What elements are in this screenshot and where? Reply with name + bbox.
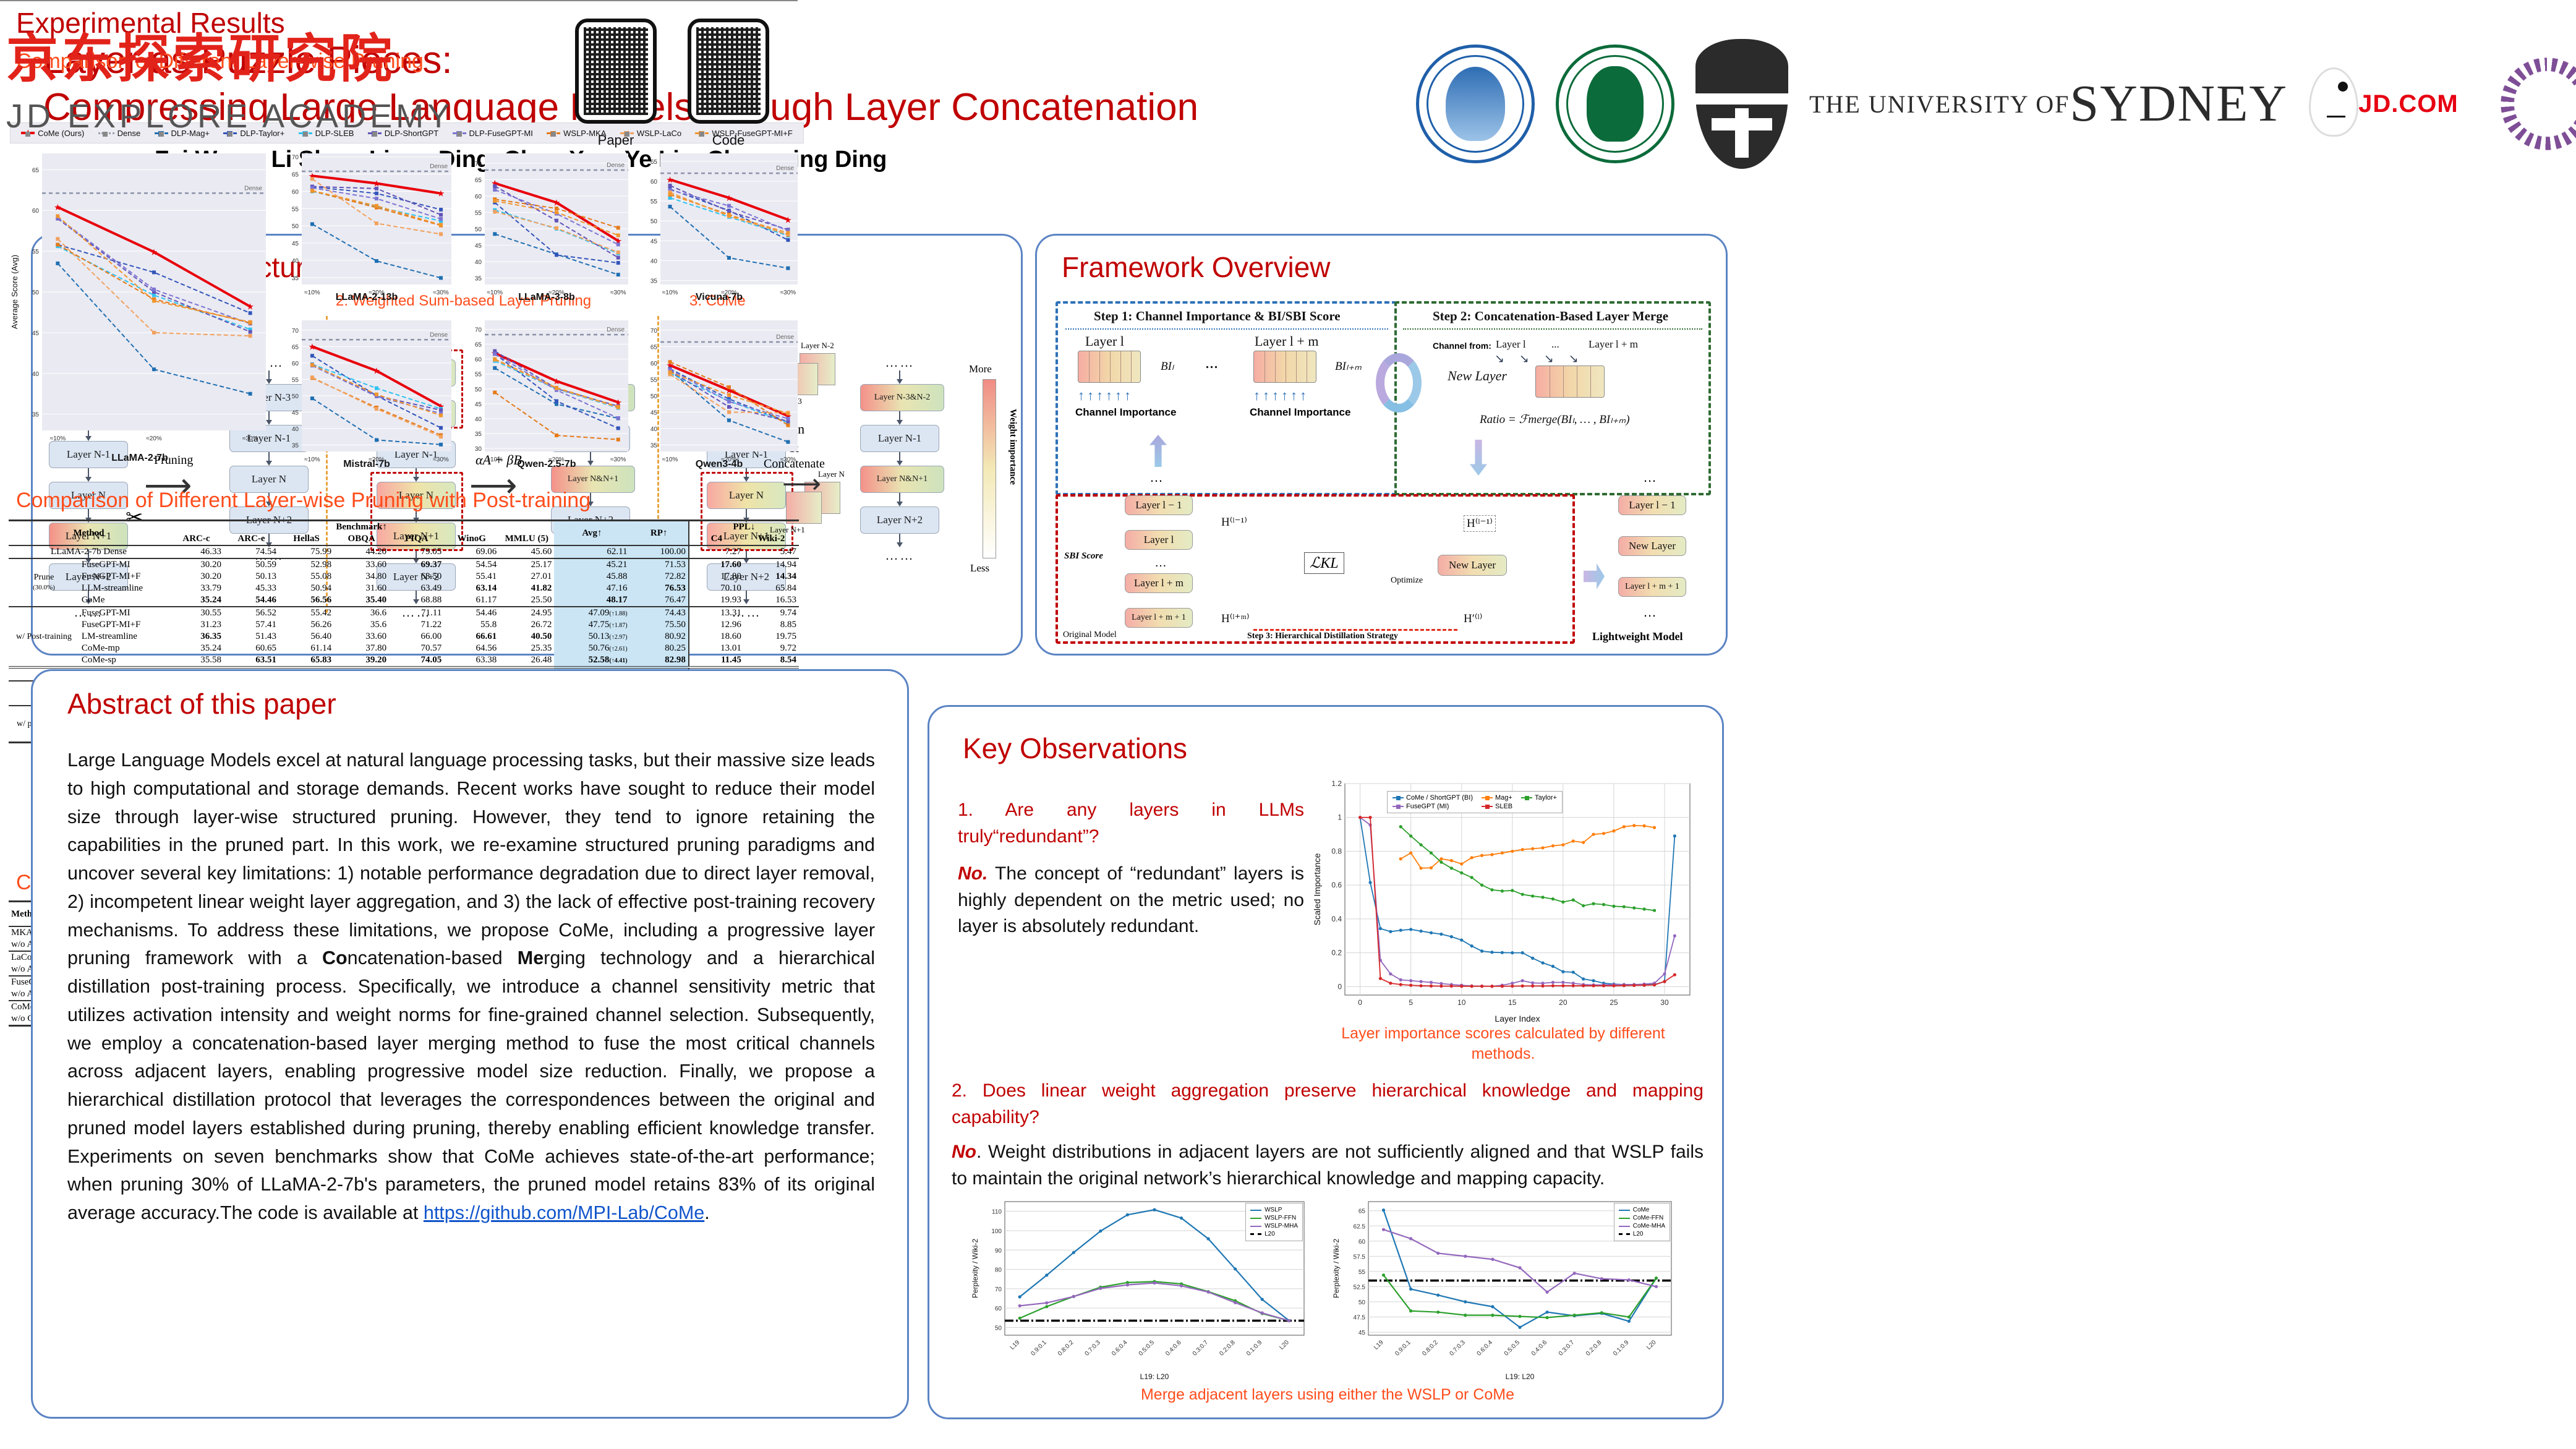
jd-explore-logo: 京东探索研究院 JD EXPLORE ACADEMY [6, 17, 526, 135]
colorbar-top-label: More [969, 363, 992, 375]
svg-text:60: 60 [650, 179, 658, 186]
svg-text:40: 40 [32, 371, 40, 378]
svg-text:Layer Index: Layer Index [1495, 1014, 1540, 1024]
cell: 50.94 [279, 583, 334, 594]
cell: 36.6 [334, 607, 389, 619]
cell-wiki: 19.75 [744, 631, 799, 643]
light-block-0: Layer l − 1 [1618, 495, 1686, 515]
poster-root: Layer as Puzzle Pieces: Compressing Larg… [0, 0, 2576, 1449]
distill-dashed-link [1253, 629, 1457, 631]
svg-text:45: 45 [475, 242, 482, 249]
svg-text:110: 110 [992, 1209, 1002, 1216]
svg-text:★: ★ [553, 198, 561, 208]
experimental-sub2: Comparison of Different Layer-wise Pruni… [16, 489, 591, 513]
abstract-title: Abstract of this paper [67, 687, 336, 720]
cell-wiki: 8.85 [744, 619, 799, 631]
row-label: FuseGPT-MI+F [79, 571, 169, 583]
svg-text:Scaled Importance: Scaled Importance [1313, 853, 1322, 925]
cell: 33.79 [169, 583, 224, 594]
col-HellaS: HellaS [279, 533, 334, 545]
framework-layer-l-label: Layer l [1085, 333, 1124, 349]
keyobs-question-2: 2. Does linear weight aggregation preser… [952, 1078, 1704, 1131]
svg-text:0.2: 0.2 [1331, 949, 1342, 957]
subplot-llama-3-8b: 3540455055606570≈10%≈20%≈30%Dense★★★ [461, 148, 632, 303]
orig-block-1: Layer l [1125, 530, 1193, 550]
orig-block-3: Layer l + m + 1 [1125, 608, 1193, 628]
svg-text:0.2:0.8: 0.2:0.8 [1585, 1339, 1603, 1357]
abstract-body: Large Language Models excel at natural l… [67, 746, 875, 1228]
svg-text:100: 100 [991, 1228, 1002, 1235]
cell: 79.05 [389, 545, 444, 558]
svg-text:90: 90 [995, 1247, 1002, 1254]
col-benchmark: Benchmark↑ [169, 521, 554, 534]
framework-step2-box [1394, 301, 1711, 495]
jd-chinese-name: 京东探索研究院 [6, 17, 526, 92]
svg-text:Dense: Dense [607, 327, 625, 333]
cell: 54.46 [444, 607, 499, 619]
come-plot-legend: CoMeCoMe-FFNCoMe-MHAL20 [1614, 1203, 1670, 1241]
row-label: CoMe-mp [79, 643, 169, 654]
jd-english-name: JD EXPLORE ACADEMY [6, 97, 526, 135]
channel-arrows-l-icon: ↑↑↑↑↑↑ [1078, 388, 1133, 404]
abstract-bold-co: Co [322, 947, 348, 968]
col-WinoG: WinoG [444, 533, 499, 545]
cell-rp: 71.53 [630, 558, 689, 571]
qr-code-code[interactable] [688, 19, 769, 124]
keyobs-answer-2-bold: No [952, 1142, 976, 1162]
cell-avg: 52.58(↑4.41) [554, 654, 629, 667]
svg-text:35: 35 [475, 275, 482, 282]
orig-block-2: Layer l + m [1125, 573, 1193, 593]
svg-text:0.6: 0.6 [1331, 881, 1342, 889]
cell: 37.80 [334, 643, 389, 654]
cell-rp: 76.53 [630, 583, 689, 594]
new-layer-box: New Layer [1438, 555, 1507, 576]
svg-text:★: ★ [666, 174, 674, 184]
cell-wiki: 9.74 [744, 607, 799, 619]
svg-text:0.2:0.8: 0.2:0.8 [1218, 1339, 1237, 1357]
cell: 39.20 [334, 654, 389, 667]
cell: 41.82 [499, 583, 554, 594]
svg-text:50: 50 [475, 226, 482, 233]
svg-text:0.5:0.5: 0.5:0.5 [1503, 1339, 1522, 1357]
usyd-line1: THE UNIVERSITY OF [1809, 90, 2070, 119]
col-ARC-e: ARC-e [224, 533, 279, 545]
float-label-1: Layer N-2 [801, 341, 834, 351]
orig-block-0: Layer l − 1 [1125, 495, 1193, 515]
svg-text:50: 50 [292, 223, 299, 230]
chart-grid: ★CoMe (Ours)DenseDLP-Mag+DLP-Taylor+DLP-… [6, 122, 804, 469]
cell: 71.11 [389, 607, 444, 619]
colorbar-axis-label: Weight importance [1007, 409, 1018, 485]
svg-text:35: 35 [32, 412, 40, 419]
svg-text:70: 70 [650, 328, 658, 335]
cell: 31.23 [169, 619, 224, 631]
abstract-bold-me: Me [518, 947, 544, 968]
plot-svg: 3540455055606570≈10%≈20%≈30%Dense★★★ [278, 315, 455, 470]
subplot-title: LLaMA-2-13b [278, 292, 455, 303]
qr-code-image [696, 27, 761, 115]
cell: 30.20 [169, 558, 224, 571]
cell-c4: 70.10 [689, 583, 744, 594]
svg-text:47.5: 47.5 [1354, 1315, 1366, 1322]
cell: 35.58 [169, 654, 224, 667]
framework-title: Framework Overview [1062, 250, 1331, 284]
pruning-arrow-3: ⟶ [782, 468, 821, 500]
cell: 55.41 [444, 571, 499, 583]
group-label: Prune(30.0%) [9, 558, 79, 607]
cell: 56.40 [279, 631, 334, 643]
svg-text:65: 65 [650, 344, 658, 351]
svg-text:55: 55 [292, 206, 299, 213]
svg-text:15: 15 [1508, 998, 1517, 1007]
row-label: LLaMA-2-7b Dense [9, 545, 169, 558]
keyobs-caption-2: Merge adjacent layers using either the W… [952, 1385, 1704, 1405]
svg-text:30: 30 [1660, 998, 1669, 1007]
keyobs-title: Key Observations [963, 732, 1187, 765]
cell: 51.43 [224, 631, 279, 643]
cell: 33.60 [334, 631, 389, 643]
scut-logo [1416, 45, 1535, 163]
svg-text:45: 45 [292, 409, 299, 416]
row-label: LLM-streamline [79, 583, 169, 594]
subplot-title: LLaMA-2-7b [10, 453, 270, 464]
svg-text:40: 40 [475, 259, 482, 266]
framework-dots-right-top: … [1643, 469, 1657, 485]
svg-text:1.2: 1.2 [1331, 779, 1342, 788]
cell-c4: 13.01 [689, 643, 744, 654]
svg-text:Dense: Dense [430, 331, 448, 338]
cell: 25.35 [499, 643, 554, 654]
channel-src-lm: Layer l + m [1589, 338, 1638, 351]
subplot-title: Vicuna-7b [637, 292, 801, 303]
cell: 35.24 [169, 643, 224, 654]
col-ppl: PPL↓ [689, 521, 799, 534]
framework-dots-mid: … [1154, 556, 1167, 570]
cell: 55.42 [279, 607, 334, 619]
svg-text:0: 0 [1337, 982, 1342, 991]
col-PIQA: PIQA [389, 533, 444, 545]
plot-svg: 00.20.40.60.811.2051015202530Scaled Impo… [1313, 776, 1696, 1024]
cell: 35.6 [334, 619, 389, 631]
cell-avg: 47.09(↑1.88) [554, 607, 629, 619]
legend-item: CoMe / ShortGPT (BI) [1392, 794, 1473, 801]
cell: 66.61 [444, 631, 499, 643]
svg-text:≈20%: ≈20% [146, 435, 162, 442]
svg-text:65: 65 [1358, 1208, 1366, 1215]
row-label: FuseGPT-MI [79, 607, 169, 619]
cell: 26.72 [499, 619, 554, 631]
col-avg: Avg↑ [554, 521, 629, 546]
cell: 24.95 [499, 607, 554, 619]
neurips-logo: NEURAL INFORMATION PROCESSING SYSTEMS [2501, 46, 2576, 161]
cell: 25.50 [499, 594, 554, 607]
jdcom-label: JD.COM [2358, 90, 2459, 118]
cell: 75.99 [279, 545, 334, 558]
svg-text:60: 60 [475, 357, 482, 364]
svg-text:40: 40 [650, 426, 658, 433]
svg-text:★: ★ [309, 341, 317, 351]
ratio-formula: Ratio = ℱmerge(BIₗ, … , BIₗ₊ₘ) [1480, 412, 1630, 427]
pruning-col3-after: …… Layer N-3&N-2 Layer N-1 Layer N&N+1 L… [860, 354, 944, 563]
cell-avg: 50.13(↑2.97) [554, 631, 629, 643]
plot-svg: 3540455055606570≈10%≈20%≈30%Dense★★★ [637, 315, 801, 470]
cell: 50.59 [224, 558, 279, 571]
kl-loss-box: ℒKL [1304, 552, 1344, 574]
cell-rp: 100.00 [630, 545, 689, 558]
svg-text:35: 35 [292, 442, 299, 449]
row-label: FuseGPT-MI+F [79, 619, 169, 631]
table-row: CoMe-sp35.5863.5165.8339.2074.0563.3826.… [9, 654, 799, 667]
usyd-wordmark: THE UNIVERSITY OF SYDNEY [1809, 78, 2288, 130]
framework-layer-lm-label: Layer l + m [1255, 333, 1318, 349]
channel-importance-lm-label: Channel Importance [1250, 406, 1350, 419]
svg-text:50: 50 [650, 218, 658, 225]
svg-text:★: ★ [784, 215, 792, 224]
sysu-logo [1556, 45, 1674, 163]
keyobs-answer-2: . Weight distributions in adjacent layer… [952, 1142, 1704, 1189]
panel-abstract: Abstract of this paper Large Language Mo… [31, 669, 909, 1419]
plot-svg: 35404550556065≈10%≈20%≈30%Dense★★★ [637, 148, 801, 303]
svg-text:70: 70 [475, 161, 482, 168]
svg-text:40: 40 [292, 258, 299, 265]
row-label: LM-streamline [79, 631, 169, 643]
legend-item: Taylor+ [1521, 794, 1557, 801]
cell: 35.24 [169, 594, 224, 607]
subplot-qwen3-4b: 3540455055606570≈10%≈20%≈30%Dense★★★ [637, 315, 801, 470]
svg-text:55: 55 [650, 377, 658, 383]
qr-code-paper[interactable] [575, 19, 657, 124]
cell: 40.50 [499, 631, 554, 643]
col-Wiki-2: Wiki-2 [744, 533, 799, 545]
row-label: CoMe-sp [79, 654, 169, 667]
cell-avg: 48.17 [554, 594, 629, 607]
svg-text:0.1:0.9: 0.1:0.9 [1612, 1339, 1631, 1357]
light-block-1: New Layer [1618, 536, 1686, 556]
plot-svg: 303540455055606570≈10%≈20%≈30%Dense★★★ [461, 315, 632, 470]
cell: 63.38 [444, 654, 499, 667]
cell-wiki: 14.34 [744, 571, 799, 583]
svg-text:≈10%: ≈10% [50, 435, 66, 442]
h-lm-label: H⁽ˡ⁺ᵐ⁾ [1221, 612, 1250, 626]
logo-strip: THE UNIVERSITY OF SYDNEY JD.COM NEURAL I… [1416, 30, 2560, 178]
cell-rp: 75.50 [630, 619, 689, 631]
svg-text:0.8:0.2: 0.8:0.2 [1421, 1339, 1439, 1357]
cell-c4: 18.60 [689, 631, 744, 643]
svg-text:50: 50 [995, 1325, 1002, 1331]
keyobs-answer-1-bold: No. [958, 863, 987, 884]
cell: 64.56 [444, 643, 499, 654]
svg-text:0.3:0.7: 0.3:0.7 [1558, 1339, 1576, 1357]
subplot-title: LLaMA-3-8b [461, 292, 632, 303]
svg-text:50: 50 [475, 387, 482, 393]
panel-key-observations: Key Observations 1. Are any layers in LL… [928, 705, 1724, 1419]
cell: 46.33 [169, 545, 224, 558]
svg-text:Dense: Dense [776, 334, 794, 341]
cell-avg: 62.11 [554, 545, 629, 558]
svg-text:0.5:0.5: 0.5:0.5 [1138, 1339, 1156, 1357]
cell: 57.41 [224, 619, 279, 631]
svg-text:45: 45 [1358, 1330, 1366, 1336]
svg-text:10: 10 [1457, 998, 1466, 1007]
legend-item: Mag+ [1482, 794, 1512, 801]
cell-wiki: 5.47 [744, 545, 799, 558]
svg-text:★: ★ [725, 193, 733, 203]
table-row: w/ Post-trainingFuseGPT-MI30.5556.5255.4… [9, 607, 799, 619]
svg-text:L19: L19 [1009, 1339, 1021, 1351]
cell-c4: 19.93 [689, 594, 744, 607]
channel-from-label: Channel from: [1433, 341, 1491, 351]
subplot-vicuna-7b: 35404550556065≈10%≈20%≈30%Dense★★★ [637, 148, 801, 303]
row-label: CoMe [79, 594, 169, 607]
abstract-period: . [704, 1202, 709, 1223]
svg-text:50: 50 [32, 289, 40, 296]
svg-text:62.5: 62.5 [1354, 1223, 1366, 1230]
col-C4: C4 [689, 533, 744, 545]
cell: 30.20 [169, 571, 224, 583]
layer-importance-plot: 00.20.40.60.811.2051015202530Scaled Impo… [1313, 776, 1696, 1024]
svg-text:60: 60 [995, 1306, 1002, 1312]
svg-text:60: 60 [292, 361, 299, 367]
channel-bar-lm [1253, 351, 1316, 383]
table-row: CoMe35.2454.4656.5635.4068.8861.1725.504… [9, 594, 799, 607]
svg-text:35: 35 [650, 278, 658, 285]
abstract-repo-link[interactable]: https://github.com/MPI-Lab/CoMe [424, 1202, 704, 1223]
cell: 65.83 [279, 654, 334, 667]
svg-text:55: 55 [475, 372, 482, 378]
panel-framework-overview: Framework Overview Step 1: Channel Impor… [1035, 234, 1728, 656]
cell-rp: 72.82 [630, 571, 689, 583]
svg-text:60: 60 [1358, 1239, 1366, 1246]
svg-text:0.9:0.1: 0.9:0.1 [1030, 1339, 1048, 1357]
cycle-arrow-icon [1376, 353, 1422, 412]
svg-text:55: 55 [475, 210, 482, 216]
optimize-label: Optimize [1391, 576, 1423, 586]
cell-avg: 45.88 [554, 571, 629, 583]
cell: 70.57 [389, 643, 444, 654]
cell: 55.8 [444, 619, 499, 631]
svg-text:52.5: 52.5 [1354, 1284, 1366, 1291]
svg-text:★: ★ [54, 202, 62, 212]
cell-c4: 7.27 [689, 545, 744, 558]
svg-text:0.6:0.4: 0.6:0.4 [1111, 1339, 1129, 1357]
svg-text:★: ★ [246, 302, 254, 312]
footer-divider [0, 0, 798, 1]
cell: 45.60 [499, 545, 554, 558]
svg-text:45: 45 [475, 401, 482, 408]
cell-avg: 45.21 [554, 558, 629, 571]
cell-c4: 17.60 [689, 558, 744, 571]
table-row: FuseGPT-MI+F30.2050.1355.0834.8068.5055.… [9, 571, 799, 583]
svg-text:0.4:0.6: 0.4:0.6 [1530, 1339, 1549, 1357]
svg-text:60: 60 [292, 189, 299, 195]
svg-text:L19: L20: L19: L20 [1140, 1372, 1169, 1381]
svg-text:Perplexity / Wiki-2: Perplexity / Wiki-2 [971, 1239, 979, 1298]
cell: 33.60 [334, 558, 389, 571]
svg-text:55: 55 [650, 199, 658, 205]
subplot-llama-2-7b: 35404550556065≈10%≈20%≈30%Dense★★★Averag… [10, 148, 270, 464]
svg-text:L19: L20: L19: L20 [1506, 1372, 1535, 1381]
svg-text:0.8: 0.8 [1331, 847, 1342, 855]
svg-text:45: 45 [650, 409, 658, 416]
cell-wiki: 16.53 [744, 594, 799, 607]
cell-rp: 74.43 [630, 607, 689, 619]
svg-text:80: 80 [995, 1267, 1002, 1274]
cell: 27.01 [499, 571, 554, 583]
sbi-score-label: SBI Score [1064, 551, 1103, 562]
svg-text:20: 20 [1559, 998, 1567, 1007]
keyobs-question-1: 1. Are any layers in LLMs truly“redundan… [958, 797, 1304, 850]
svg-text:L20: L20 [1278, 1339, 1290, 1351]
svg-text:55: 55 [32, 249, 40, 255]
cell: 55.08 [279, 571, 334, 583]
importance-plot-legend: CoMe / ShortGPT (BI)Mag+Taylor+FuseGPT (… [1387, 791, 1563, 813]
cell: 54.46 [224, 594, 279, 607]
new-layer-label: New Layer [1448, 368, 1507, 384]
keyobs-answer-1: The concept of “redundant” layers is hig… [958, 863, 1304, 936]
cell-c4: 11.45 [689, 654, 744, 667]
col-ARC-c: ARC-c [169, 533, 224, 545]
cell-c4: 17.80 [689, 571, 744, 583]
svg-text:Dense: Dense [607, 162, 625, 169]
cell-wiki: 65.84 [744, 583, 799, 594]
svg-text:40: 40 [650, 258, 658, 265]
svg-text:0.8:0.2: 0.8:0.2 [1057, 1339, 1075, 1357]
svg-text:★: ★ [373, 366, 381, 376]
neurips-dots-icon [2501, 46, 2576, 161]
cell: 56.56 [279, 594, 334, 607]
svg-text:L19: L19 [1373, 1339, 1385, 1351]
svg-text:0.7:0.3: 0.7:0.3 [1084, 1339, 1102, 1357]
qr-paper-caption: Paper [575, 132, 657, 148]
bi-l-label: BIₗ [1161, 359, 1174, 374]
bi-lm-label: BIₗ₊ₘ [1335, 359, 1362, 374]
svg-text:60: 60 [650, 361, 658, 367]
cell: 54.54 [444, 558, 499, 571]
svg-text:★: ★ [437, 189, 445, 199]
svg-text:60: 60 [475, 194, 482, 200]
subplot-title: Mistral-7b [278, 459, 455, 470]
svg-text:70: 70 [292, 155, 299, 161]
cell-rp: 80.25 [630, 643, 689, 654]
framework-step1-rule [1065, 328, 1388, 330]
cell-wiki: 14.94 [744, 558, 799, 571]
weight-importance-colorbar [983, 379, 996, 558]
svg-text:Dense: Dense [776, 165, 794, 172]
table-row: FuseGPT-MI+F31.2357.4156.2635.671.2255.8… [9, 619, 799, 631]
svg-text:70: 70 [475, 327, 482, 333]
svg-text:45: 45 [650, 238, 658, 245]
cell: 63.51 [224, 654, 279, 667]
channel-bar-l [1078, 351, 1141, 383]
cell: 68.50 [389, 571, 444, 583]
usyd-shield-icon [1695, 39, 1788, 169]
plot-svg: 3540455055606570≈10%≈20%≈30%Dense★★★ [278, 148, 455, 303]
h-prime-label: H′⁽ˡ⁾ [1464, 612, 1482, 626]
cell: 66.00 [389, 631, 444, 643]
plot-svg: 3540455055606570≈10%≈20%≈30%Dense★★★ [461, 148, 632, 303]
svg-text:Perplexity / Wiki-2: Perplexity / Wiki-2 [1332, 1239, 1341, 1298]
svg-text:★: ★ [553, 376, 561, 386]
svg-text:0.6:0.4: 0.6:0.4 [1476, 1339, 1495, 1357]
svg-text:65: 65 [292, 344, 299, 351]
framework-dots-right-bot: … [1643, 604, 1657, 620]
cell: 69.37 [389, 558, 444, 571]
svg-text:35: 35 [475, 431, 482, 438]
wslp-merge-plot: 5060708090100110L190.9:0.10.8:0.20.7:0.3… [970, 1195, 1310, 1381]
table-row: CoMe-mp35.2460.6561.1437.8070.5764.5625.… [9, 643, 799, 654]
framework-step3-label: Step 3: Hierarchical Distillation Strate… [1247, 631, 1398, 641]
